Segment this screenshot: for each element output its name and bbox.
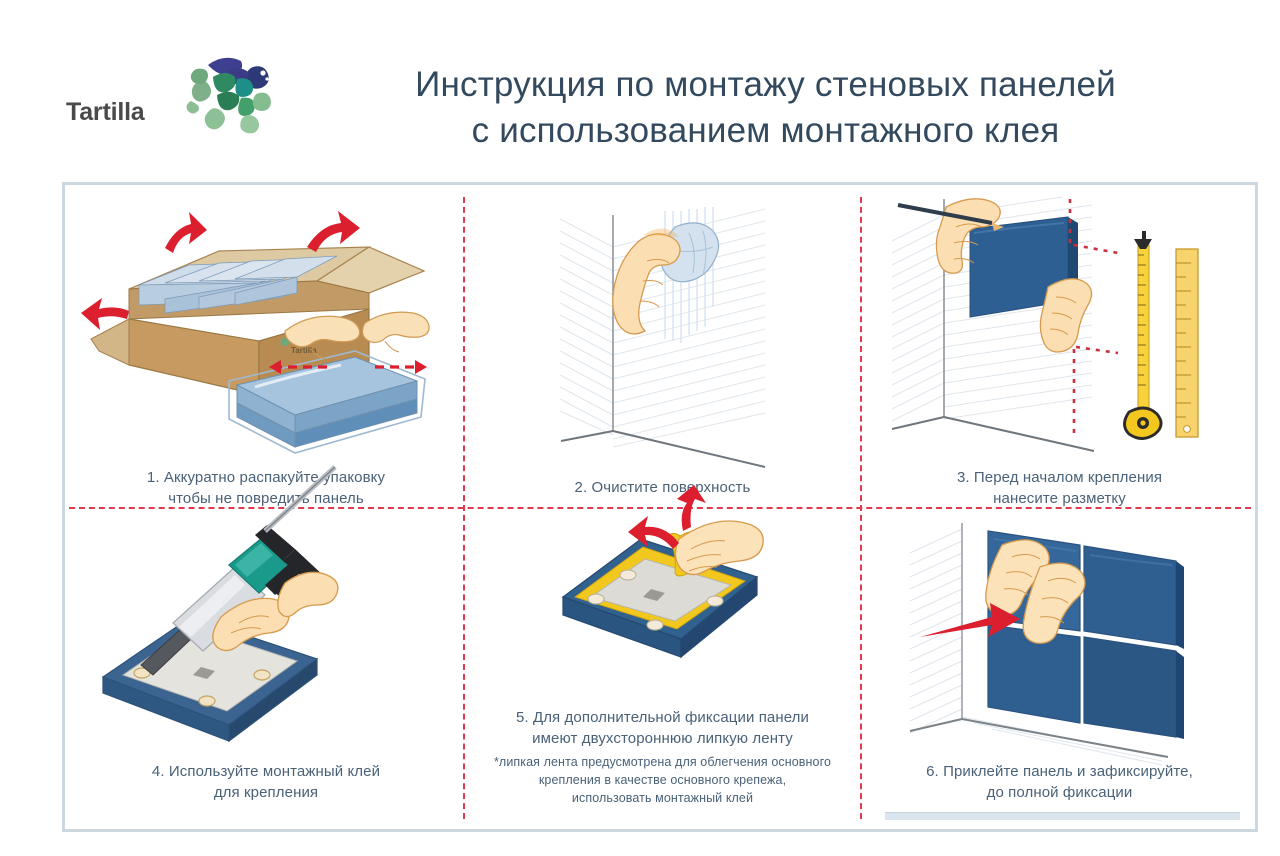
step-5-illustration bbox=[465, 509, 860, 709]
step-5-note-line-3: использовать монтажный клей bbox=[465, 789, 860, 807]
step-5-caption: 5. Для дополнительной фиксации панели им… bbox=[465, 707, 860, 749]
brand-name: Tartilla bbox=[66, 98, 145, 127]
step-5-note: *липкая лента предусмотрена для облегчен… bbox=[465, 753, 860, 807]
step-4-cell: 4. Используйте монтажный клей для крепле… bbox=[69, 509, 463, 831]
flat-hand-icon bbox=[1040, 279, 1091, 352]
step-5-caption-line-2: имеют двухстороннюю липкую ленту bbox=[465, 728, 860, 749]
step-3-illustration bbox=[862, 189, 1257, 464]
step-5-caption-line-1: 5. Для дополнительной фиксации панели bbox=[465, 707, 860, 728]
ruler-icon bbox=[1176, 249, 1198, 437]
page-header: Tartilla Инструкция по монтажу стеновых … bbox=[0, 0, 1280, 180]
instruction-sheet-inner: Tartilla bbox=[65, 185, 1255, 829]
step-2-cell: 2. Очистите поверхность bbox=[465, 189, 860, 507]
step-1-illustration: Tartilla bbox=[69, 189, 463, 459]
left-wall-hatch bbox=[560, 219, 613, 435]
step-1-caption-line-2: чтобы не повредить панель bbox=[69, 488, 463, 509]
step-2-illustration bbox=[465, 189, 860, 469]
step-1-cell: Tartilla bbox=[69, 189, 463, 507]
step-3-caption-line-2: нанесите разметку bbox=[862, 488, 1257, 509]
page-title: Инструкция по монтажу стеновых панелей с… bbox=[288, 62, 1243, 154]
instruction-sheet-frame: Tartilla bbox=[62, 182, 1258, 832]
step-6-cell: 6. Приклейте панель и зафиксируйте, до п… bbox=[862, 509, 1257, 831]
step-4-caption: 4. Используйте монтажный клей для крепле… bbox=[69, 761, 463, 803]
step-6-caption: 6. Приклейте панель и зафиксируйте, до п… bbox=[862, 761, 1257, 803]
step-6-caption-line-1: 6. Приклейте панель и зафиксируйте, bbox=[862, 761, 1257, 782]
step-3-caption-line-1: 3. Перед началом крепления bbox=[862, 467, 1257, 488]
page-title-line-2: с использованием монтажного клея bbox=[288, 108, 1243, 154]
step-3-cell: 3. Перед началом крепления нанесите разм… bbox=[862, 189, 1257, 507]
tape-measure-icon bbox=[1123, 231, 1163, 440]
step-4-illustration bbox=[69, 509, 463, 759]
step-1-caption: 1. Аккуратно распакуйте упаковку чтобы н… bbox=[69, 467, 463, 509]
step-4-caption-line-2: для крепления bbox=[69, 782, 463, 803]
turtle-logo-icon bbox=[183, 45, 279, 141]
step-1-caption-line-1: 1. Аккуратно распакуйте упаковку bbox=[69, 467, 463, 488]
step-5-note-line-1: *липкая лента предусмотрена для облегчен… bbox=[465, 753, 860, 771]
page-title-line-1: Инструкция по монтажу стеновых панелей bbox=[415, 65, 1116, 104]
step-2-caption: 2. Очистите поверхность bbox=[465, 477, 860, 498]
step-5-cell: 5. Для дополнительной фиксации панели им… bbox=[465, 509, 860, 831]
step-2-caption-line-1: 2. Очистите поверхность bbox=[465, 477, 860, 498]
svg-text:Tartilla: Tartilla bbox=[291, 346, 317, 355]
step-6-caption-line-2: до полной фиксации bbox=[862, 782, 1257, 803]
step-3-caption: 3. Перед началом крепления нанесите разм… bbox=[862, 467, 1257, 509]
step-4-caption-line-1: 4. Используйте монтажный клей bbox=[69, 761, 463, 782]
step-5-note-line-2: крепления в качестве основного крепежа, bbox=[465, 771, 860, 789]
step-6-illustration bbox=[862, 509, 1257, 759]
